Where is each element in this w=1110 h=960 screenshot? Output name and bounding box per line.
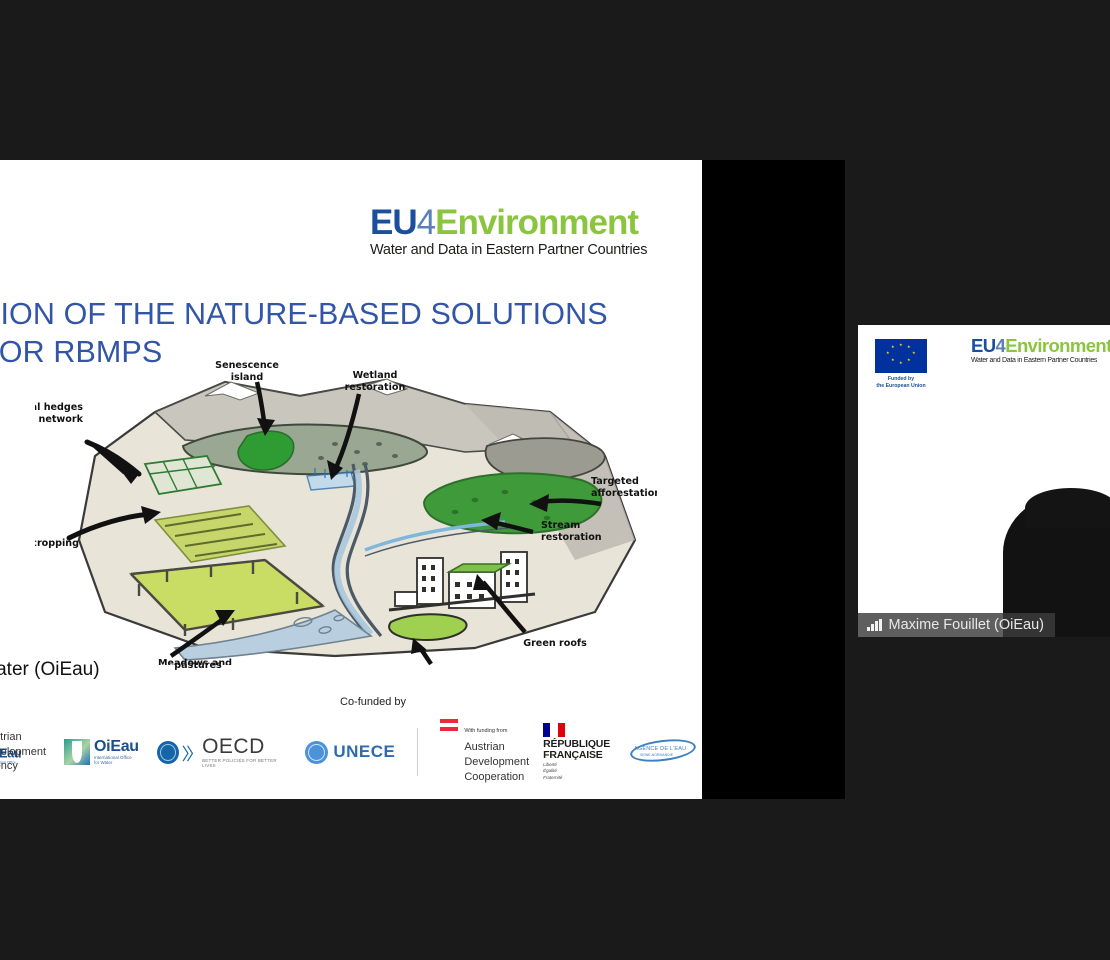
oecd-globe-icon xyxy=(157,741,179,764)
logo-ada-label: Austrian Development Agency xyxy=(0,730,46,775)
logo-unece: UNECE xyxy=(305,741,395,764)
agence-label: AGENCE DE L'EAU xyxy=(634,746,686,752)
meeting-screen: ★ ★ ★ ★ ★ ★ ★ ★ Funded by the European U… xyxy=(0,0,1110,960)
agence-sublabel: SEINE-NORMANDIE xyxy=(640,753,673,757)
svg-text:afforestation: afforestation xyxy=(591,488,657,499)
svg-text:island: island xyxy=(231,372,264,383)
signal-bars-icon xyxy=(867,619,882,631)
logo-oieau: OiEau International Office for Water xyxy=(64,739,139,765)
cofunded-logo-group: With funding from Austrian Development C… xyxy=(440,719,702,785)
slide-date: 23 xyxy=(0,590,100,619)
label-natural-hedges: Natural hedges xyxy=(35,402,83,413)
logo-oieau-label: OiEau xyxy=(94,738,139,755)
logo-oecd: 〉〉 OECD BETTER POLICIES FOR BETTER LIVES xyxy=(157,736,288,768)
logo-unece-label: UNECE xyxy=(333,742,395,762)
logo-oieau-sub: International Office for Water xyxy=(94,756,139,765)
video-brand-four: 4 xyxy=(996,335,1006,356)
logo-oecd-label: OECD xyxy=(202,735,265,758)
brand-eu: EU xyxy=(370,203,417,242)
participant-name: Maxime Fouillet (OiEau) xyxy=(889,617,1045,633)
label-green-roofs: Green roofs xyxy=(523,638,587,649)
label-intercropping: Intercropping xyxy=(35,538,79,549)
presentation-slide[interactable]: ★ ★ ★ ★ ★ ★ ★ ★ Funded by the European U… xyxy=(0,160,702,799)
video-eu-funding-text: Funded by the European Union xyxy=(875,376,927,390)
participant-video-tile[interactable]: ★ ★ ★ ★ ★ ★ ★ ★ Funded by the European U… xyxy=(858,325,1110,637)
european-union-flag-icon: ★ ★ ★ ★ ★ ★ ★ ★ xyxy=(875,339,927,373)
logo-republique-francaise: RÉPUBLIQUE FRANÇAISE Liberté Égalité Fra… xyxy=(543,723,610,780)
logo-austrian-development-agency: Austrian Development Agency xyxy=(0,730,46,775)
logo-agence-de-leau: AGENCE DE L'EAU SEINE-NORMANDIE xyxy=(624,739,702,765)
nature-based-solutions-diagram: Senescence island Wetland restoration Na… xyxy=(35,360,657,665)
brand-environment: Environment xyxy=(435,203,638,242)
label-meadows-pastures-line2: pastures xyxy=(143,660,253,671)
republique-devise: Liberté Égalité Fraternité xyxy=(543,762,610,780)
video-eu-funding-lockup: ★ ★ ★ ★ ★ ★ ★ ★ Funded by the European U… xyxy=(875,339,927,390)
logo-oecd-sub: BETTER POLICIES FOR BETTER LIVES xyxy=(202,759,287,768)
france-flag-icon xyxy=(543,723,565,737)
label-targeted-afforestation: Targeted xyxy=(591,476,639,487)
partner-logo-row: Umweltbundesamt® Austrian Development Ag… xyxy=(0,724,702,780)
label-senescence-island: Senescence xyxy=(215,360,279,371)
divider xyxy=(417,728,418,776)
video-brand-eu: EU xyxy=(971,335,996,356)
un-globe-icon xyxy=(305,741,328,764)
svg-text:restoration: restoration xyxy=(541,532,602,543)
slide-presenter: Maxime Fouillet, xyxy=(0,626,100,657)
eu-funding-line-1: Funded by xyxy=(0,260,2,279)
republique-label: RÉPUBLIQUE FRANÇAISE xyxy=(543,739,610,761)
cofunded-label: Co-funded by xyxy=(340,696,406,708)
video-brand-environment: Environment xyxy=(1005,335,1110,356)
oecd-arrows-icon: 〉〉 xyxy=(182,740,200,765)
svg-text:network: network xyxy=(39,414,84,425)
label-stream-restoration: Stream xyxy=(541,520,580,531)
slide-meta: 23 Maxime Fouillet, International Office… xyxy=(0,590,100,684)
eu4environment-logo: EU4Environment Water and Data in Eastern… xyxy=(370,205,647,258)
label-wetland-restoration: Wetland xyxy=(353,370,398,381)
with-funding-from-label: With funding from xyxy=(464,728,507,734)
video-brand-subtitle: Water and Data in Eastern Partner Countr… xyxy=(971,357,1110,364)
video-eu4environment-logo: EU4Environment Water and Data in Eastern… xyxy=(971,337,1110,364)
shared-screen-stage[interactable]: ★ ★ ★ ★ ★ ★ ★ ★ Funded by the European U… xyxy=(0,160,845,799)
participant-name-badge: Maxime Fouillet (OiEau) xyxy=(858,613,1055,637)
svg-text:restoration: restoration xyxy=(345,382,406,393)
austria-flag-icon xyxy=(440,719,458,731)
brand-four: 4 xyxy=(417,203,435,242)
brand-subtitle: Water and Data in Eastern Partner Countr… xyxy=(370,242,647,258)
eu-funding-lockup: ★ ★ ★ ★ ★ ★ ★ ★ Funded by the European U… xyxy=(0,202,2,299)
oieau-mark-icon xyxy=(64,739,90,765)
slide-organisation: International Office for Water (OiEau) xyxy=(0,656,100,684)
logo-adc-label: Austrian Development Cooperation xyxy=(464,740,529,785)
